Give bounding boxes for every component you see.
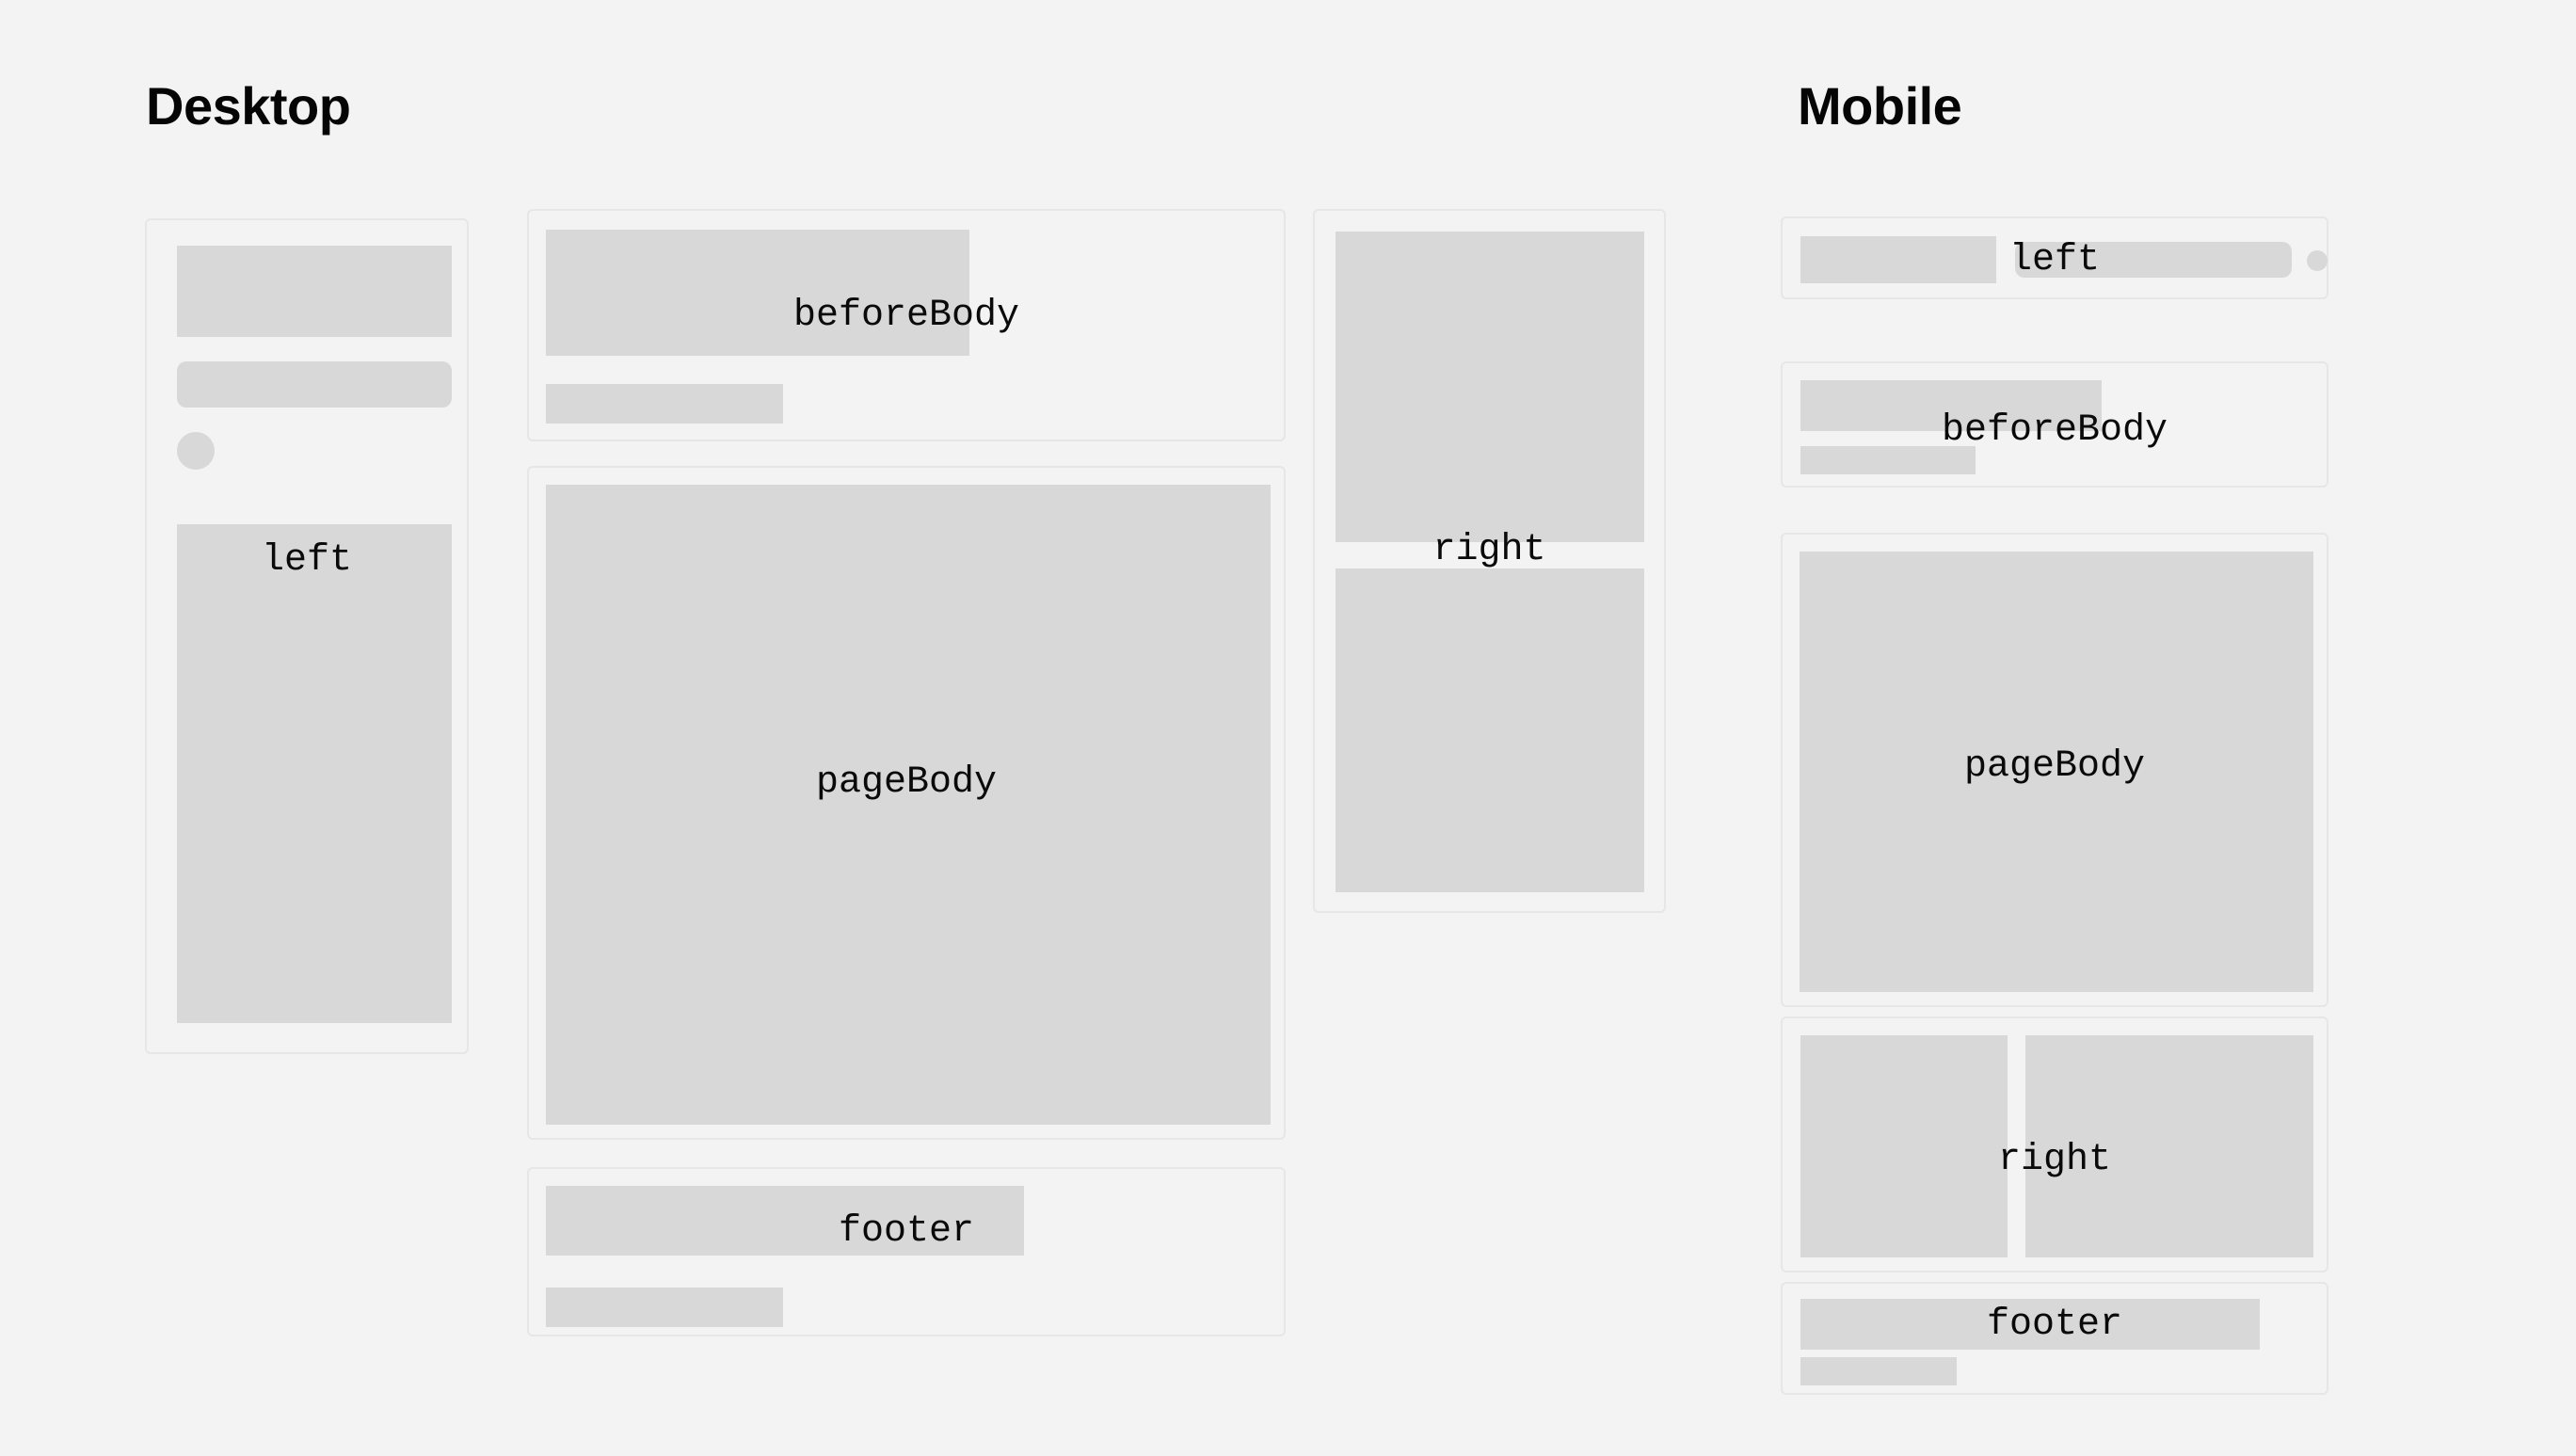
mobile-section-heading: Mobile: [1798, 80, 1961, 133]
skeleton-bar-small: [546, 1288, 783, 1327]
skeleton-block-hero: [546, 1186, 1024, 1256]
mobile-left-slot-panel[interactable]: [1781, 216, 2328, 299]
skeleton-block-hero: [546, 230, 969, 356]
skeleton-block-left-column: [1800, 1035, 2008, 1257]
desktop-section-heading: Desktop: [146, 80, 350, 133]
skeleton-bar-small: [1800, 446, 1976, 474]
desktop-left-slot-panel[interactable]: [145, 218, 469, 1054]
skeleton-bar-small: [546, 384, 783, 424]
skeleton-block-header: [1800, 236, 1996, 283]
skeleton-block-top: [1336, 232, 1644, 542]
desktop-footer-slot-panel[interactable]: [527, 1167, 1286, 1336]
skeleton-avatar-circle: [177, 432, 215, 470]
skeleton-avatar-circle: [2307, 250, 2328, 271]
skeleton-bar-subheader: [2015, 242, 2292, 278]
skeleton-block-right-column: [2025, 1035, 2313, 1257]
skeleton-block-fill: [546, 485, 1271, 1125]
wireframe-preview-stage: Desktop left beforeBody pageBody footer …: [0, 0, 2576, 1456]
mobile-before-body-slot-panel[interactable]: [1781, 361, 2328, 488]
mobile-footer-slot-panel[interactable]: [1781, 1282, 2328, 1395]
desktop-before-body-slot-panel[interactable]: [527, 209, 1286, 441]
skeleton-block-bottom: [1336, 568, 1644, 892]
desktop-page-body-slot-panel[interactable]: [527, 466, 1286, 1140]
skeleton-block-hero: [1800, 380, 2102, 431]
skeleton-block-tall: [177, 524, 452, 1023]
skeleton-bar-small: [1800, 1357, 1957, 1385]
mobile-right-slot-panel[interactable]: [1781, 1016, 2328, 1272]
skeleton-block-fill: [1800, 552, 2313, 992]
desktop-right-slot-panel[interactable]: [1313, 209, 1666, 913]
skeleton-bar-subheader: [177, 361, 452, 408]
skeleton-block-header: [177, 246, 452, 337]
skeleton-block-hero: [1800, 1299, 2260, 1350]
mobile-page-body-slot-panel[interactable]: [1781, 533, 2328, 1007]
